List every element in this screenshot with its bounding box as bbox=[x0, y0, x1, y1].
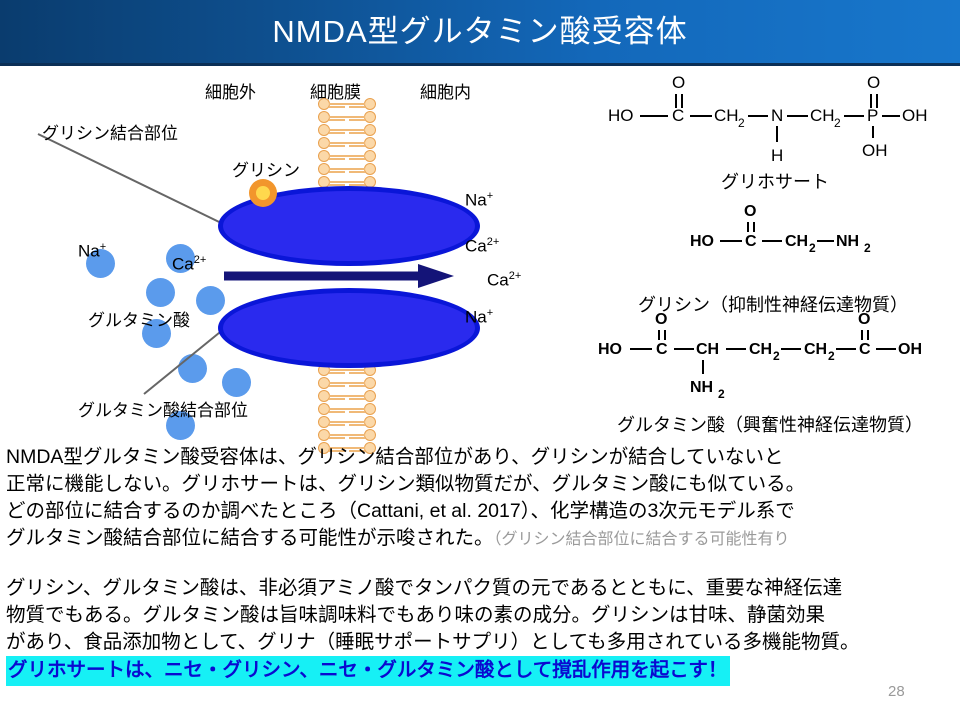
ion-flow-arrow-icon bbox=[222, 264, 454, 288]
page-number: 28 bbox=[888, 683, 905, 700]
svg-text:CH: CH bbox=[714, 106, 739, 125]
paragraph-1: NMDA型グルタミン酸受容体は、グリシン結合部位があり、グリシンが結合していない… bbox=[6, 444, 958, 553]
text-line: グルタミン酸結合部位に結合する可能性が示唆された。（グリシン結合部位に結合する可… bbox=[6, 525, 958, 553]
text-line: グリシン、グルタミン酸は、非必須アミノ酸でタンパク質の元であるとともに、重要な神… bbox=[6, 575, 958, 602]
lipid-bilayer-upper bbox=[318, 98, 376, 190]
label-ion-ca-intracellular-1: Ca2+ bbox=[465, 236, 499, 257]
text-segment: グルタミン酸結合部位に結合する可能性が示唆された。 bbox=[6, 527, 494, 549]
structure-glyphosate: HO C O CH 2 N H CH 2 P O OH OH bbox=[590, 66, 960, 166]
svg-text:OH: OH bbox=[902, 106, 928, 125]
chemical-structures-panel: HO C O CH 2 N H CH 2 P O OH OH グリホ bbox=[590, 66, 960, 436]
receptor-subunit-lower bbox=[218, 288, 480, 368]
label-glutamate: グルタミン酸 bbox=[88, 306, 190, 331]
label-extracellular: 細胞外 bbox=[205, 78, 256, 103]
svg-text:HO: HO bbox=[608, 106, 634, 125]
label-glycine: グリシン bbox=[232, 156, 300, 181]
paragraph-spacer bbox=[6, 553, 958, 575]
label-ion-na-extracellular: Na+ bbox=[78, 241, 106, 262]
text-segment-faint: （グリシン結合部位に結合する可能性有り bbox=[494, 531, 790, 548]
glycine-bound-marker-icon bbox=[249, 179, 277, 207]
svg-text:OH: OH bbox=[898, 341, 922, 358]
ion-circle bbox=[146, 278, 175, 307]
highlighted-conclusion: グリホサートは、ニセ・グリシン、ニセ・グルタミン酸として撹乱作用を起こす！ bbox=[6, 656, 730, 686]
svg-text:CH: CH bbox=[696, 341, 719, 358]
svg-text:NH: NH bbox=[836, 233, 859, 250]
svg-text:C: C bbox=[656, 341, 668, 358]
svg-text:NH: NH bbox=[690, 379, 713, 396]
label-ion-na-intracellular-1: Na+ bbox=[465, 190, 493, 211]
structure-glutamate: HO C O CH NH 2 CH 2 CH 2 C O OH bbox=[590, 302, 960, 410]
svg-text:O: O bbox=[655, 311, 667, 328]
svg-text:2: 2 bbox=[738, 116, 745, 130]
svg-text:2: 2 bbox=[773, 349, 780, 363]
label-intracellular: 細胞内 bbox=[420, 78, 471, 103]
svg-text:O: O bbox=[867, 73, 880, 92]
svg-text:O: O bbox=[672, 73, 685, 92]
text-line: NMDA型グルタミン酸受容体は、グリシン結合部位があり、グリシンが結合していない… bbox=[6, 444, 958, 471]
svg-text:CH: CH bbox=[785, 233, 808, 250]
svg-text:CH: CH bbox=[749, 341, 772, 358]
highlight-line-wrapper: グリホサートは、ニセ・グリシン、ニセ・グルタミン酸として撹乱作用を起こす！ bbox=[6, 656, 958, 686]
svg-text:HO: HO bbox=[690, 233, 714, 250]
svg-text:N: N bbox=[771, 106, 783, 125]
caption-glutamate: グルタミン酸（興奮性神経伝達物質） bbox=[585, 411, 955, 437]
label-ion-ca-intracellular-2: Ca2+ bbox=[487, 270, 521, 291]
svg-text:O: O bbox=[858, 311, 870, 328]
svg-text:2: 2 bbox=[718, 387, 725, 401]
caption-glyphosate: グリホサート bbox=[590, 168, 960, 194]
svg-text:2: 2 bbox=[809, 241, 816, 255]
page-title: NMDA型グルタミン酸受容体 bbox=[0, 0, 960, 66]
slide-title-bar: NMDA型グルタミン酸受容体 bbox=[0, 0, 960, 66]
svg-text:2: 2 bbox=[864, 241, 871, 255]
svg-text:C: C bbox=[859, 341, 871, 358]
text-line: 正常に機能しない。グリホサートは、グリシン類似物質だが、グルタミン酸にも似ている… bbox=[6, 471, 958, 498]
text-line: どの部位に結合するのか調べたところ（Cattani, et al. 2017）、… bbox=[6, 498, 958, 525]
svg-text:C: C bbox=[672, 106, 684, 125]
svg-text:C: C bbox=[745, 233, 757, 250]
label-ion-ca-extracellular: Ca2+ bbox=[172, 254, 206, 275]
svg-text:HO: HO bbox=[598, 341, 622, 358]
svg-text:H: H bbox=[771, 146, 783, 165]
svg-text:2: 2 bbox=[828, 349, 835, 363]
body-text-block: NMDA型グルタミン酸受容体は、グリシン結合部位があり、グリシンが結合していない… bbox=[6, 444, 958, 686]
label-glutamate-binding-site: グルタミン酸結合部位 bbox=[78, 396, 248, 421]
svg-text:2: 2 bbox=[834, 116, 841, 130]
structure-glycine: HO C O CH 2 NH 2 bbox=[590, 194, 960, 269]
svg-text:CH: CH bbox=[810, 106, 835, 125]
label-ion-na-intracellular-2: Na+ bbox=[465, 307, 493, 328]
paragraph-2: グリシン、グルタミン酸は、非必須アミノ酸でタンパク質の元であるとともに、重要な神… bbox=[6, 575, 958, 686]
text-line: があり、食品添加物として、グリナ（睡眠サポートサプリ）としても多用されている多機… bbox=[6, 629, 958, 656]
svg-text:O: O bbox=[744, 203, 756, 220]
svg-text:P: P bbox=[867, 106, 878, 125]
receptor-diagram: 細胞外 細胞膜 細胞内 bbox=[0, 66, 600, 436]
text-line: 物質でもある。グルタミン酸は旨味調味料でもあり味の素の成分。グリシンは甘味、静菌… bbox=[6, 602, 958, 629]
svg-text:OH: OH bbox=[862, 141, 888, 160]
svg-text:CH: CH bbox=[804, 341, 827, 358]
label-glycine-binding-site: グリシン結合部位 bbox=[42, 119, 178, 144]
